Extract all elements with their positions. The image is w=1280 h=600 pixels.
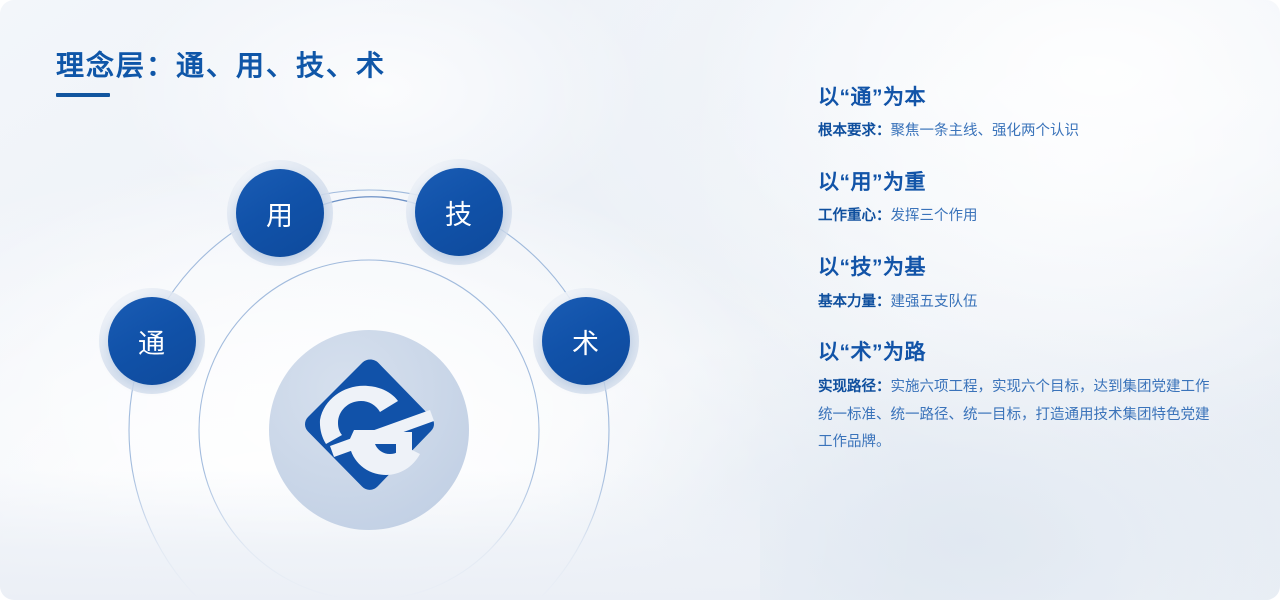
diagram-node-label: 技 — [445, 193, 473, 232]
concept-block-text: 建强五支队伍 — [891, 294, 978, 310]
concept-block-body: 实现路径：实施六项工程，实现六个目标，达到集团党建工作统一标准、统一路径、统一目… — [818, 374, 1218, 457]
concept-block-label: 根本要求： — [818, 123, 891, 139]
concept-block-label: 工作重心： — [818, 208, 891, 224]
concept-block-text: 聚焦一条主线、强化两个认识 — [891, 123, 1080, 139]
diagram-node-label: 用 — [266, 194, 294, 233]
diagram-node-shu[interactable]: 术 — [542, 297, 630, 385]
concept-block-heading: 以“技”为基 — [818, 254, 1218, 281]
concept-detail-panel: 以“通”为本根本要求：聚焦一条主线、强化两个认识以“用”为重工作重心：发挥三个作… — [818, 84, 1218, 457]
concept-circle-diagram: 通用技术 — [0, 0, 760, 600]
concept-block: 以“用”为重工作重心：发挥三个作用 — [818, 169, 1218, 231]
concept-block-body: 根本要求：聚焦一条主线、强化两个认识 — [818, 118, 1218, 146]
diagram-node-label: 术 — [572, 322, 600, 361]
concept-block-heading: 以“术”为路 — [818, 339, 1218, 366]
general-technology-group-logo — [302, 358, 438, 500]
concept-block-body: 基本力量：建强五支队伍 — [818, 289, 1218, 317]
diagram-node-ji[interactable]: 技 — [415, 168, 503, 256]
concept-block: 以“术”为路实现路径：实施六项工程，实现六个目标，达到集团党建工作统一标准、统一… — [818, 339, 1218, 457]
diagram-node-tong[interactable]: 通 — [108, 297, 196, 385]
concept-block: 以“通”为本根本要求：聚焦一条主线、强化两个认识 — [818, 84, 1218, 146]
diagram-node-label: 通 — [138, 322, 166, 361]
concept-block-heading: 以“通”为本 — [818, 84, 1218, 111]
center-logo-disc — [269, 330, 469, 530]
concept-block-text: 发挥三个作用 — [891, 208, 978, 224]
concept-block: 以“技”为基基本力量：建强五支队伍 — [818, 254, 1218, 316]
concept-block-label: 实现路径： — [818, 379, 891, 395]
arc-yong-to-ji — [322, 197, 417, 205]
concept-block-heading: 以“用”为重 — [818, 169, 1218, 196]
concept-block-label: 基本力量： — [818, 294, 891, 310]
diagram-node-yong[interactable]: 用 — [236, 169, 324, 257]
concept-block-body: 工作重心：发挥三个作用 — [818, 203, 1218, 231]
slide-canvas: 理念层：通、用、技、术 — [0, 0, 1280, 600]
